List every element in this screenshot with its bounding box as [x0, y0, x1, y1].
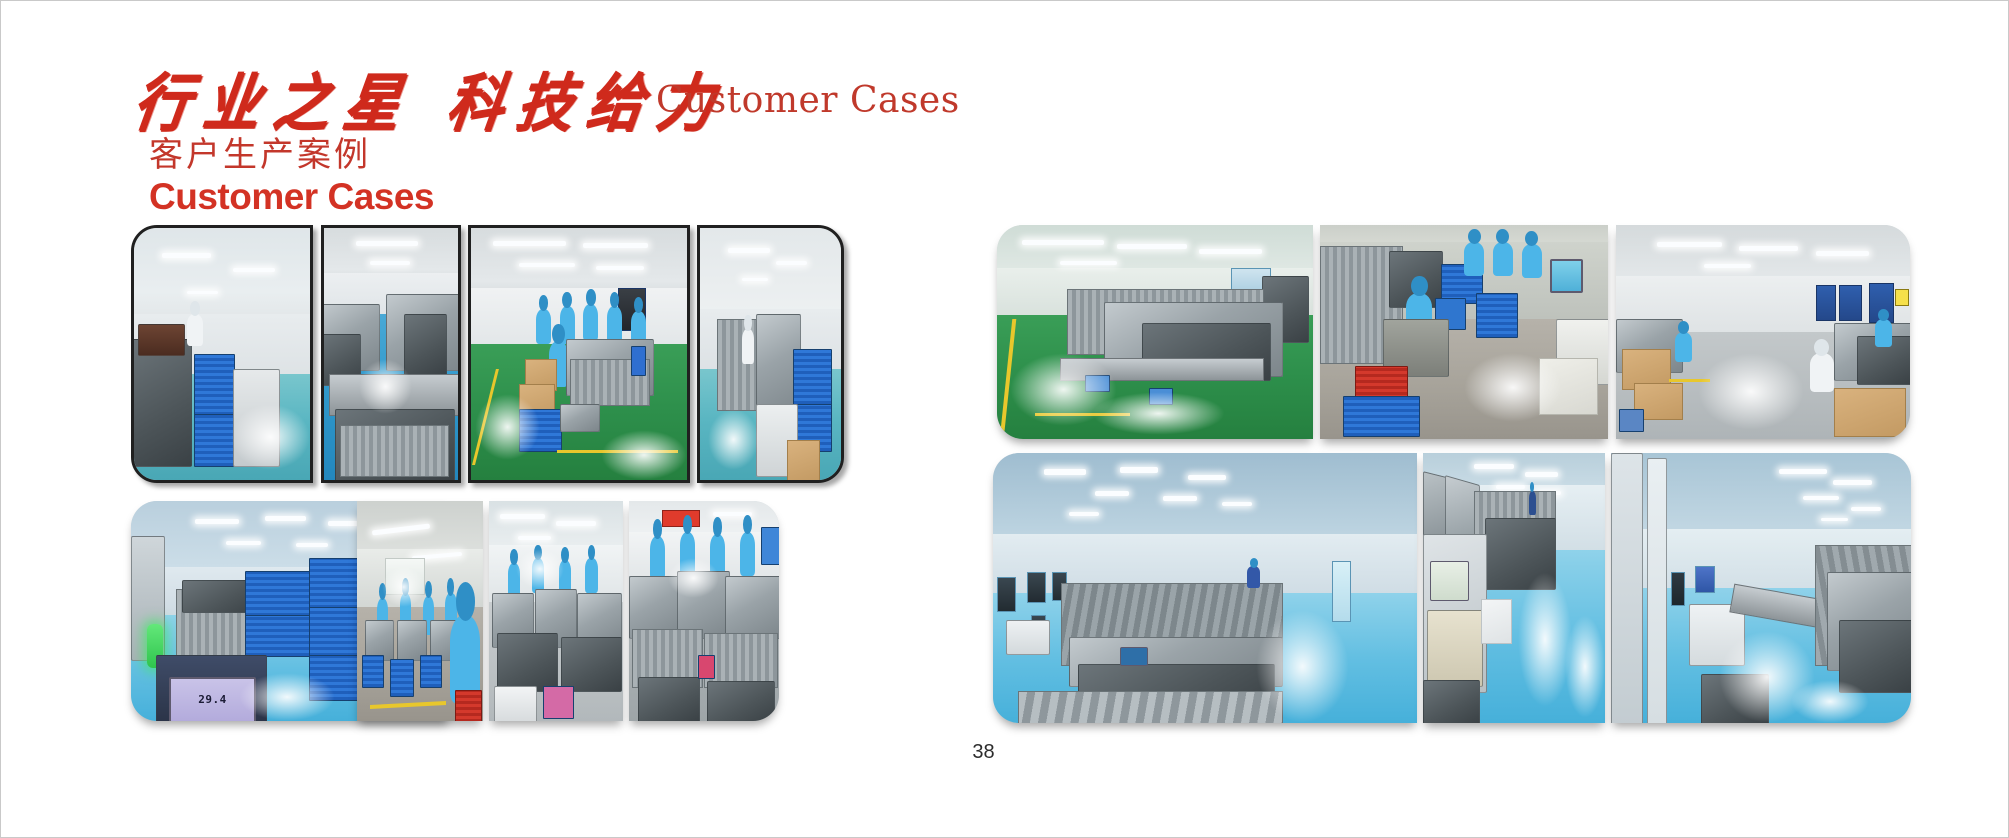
photo-tl-3[interactable]: [468, 225, 690, 483]
photo-tr-1[interactable]: [997, 225, 1313, 439]
page-number: 38: [1, 741, 2008, 764]
photo-tr-2[interactable]: [1320, 225, 1608, 439]
photo-tr-3[interactable]: [1616, 225, 1910, 439]
photo-tl-2[interactable]: [321, 225, 461, 483]
photo-tl-1[interactable]: [131, 225, 313, 483]
photo-bl-4[interactable]: [629, 501, 779, 721]
hmi-readout-value: 29.4: [198, 693, 227, 706]
hmi-display-bl-1: 29.4: [169, 677, 256, 721]
top-right-photo-cluster: [997, 225, 1913, 443]
section-subtitle-chinese: 客户生产案例: [149, 127, 371, 176]
photo-br-1[interactable]: [993, 453, 1417, 723]
section-subtitle-english: Customer Cases: [149, 176, 434, 218]
photo-tl-4[interactable]: [697, 225, 844, 483]
slide-header: 行业之星 科技给力 Customer Cases 客户生产案例 Customer…: [1, 1, 2008, 216]
page-number-value: 38: [972, 741, 994, 763]
photo-br-3[interactable]: [1611, 453, 1911, 723]
bottom-right-photo-cluster: [993, 453, 1913, 725]
top-left-photo-cluster: [131, 225, 981, 487]
slide-canvas: 行业之星 科技给力 Customer Cases 客户生产案例 Customer…: [0, 0, 2009, 838]
photo-bl-3[interactable]: [489, 501, 623, 721]
header-title-english: Customer Cases: [656, 80, 960, 121]
photo-br-2[interactable]: [1423, 453, 1605, 723]
bottom-left-photo-cluster: 29.4: [131, 501, 981, 725]
photo-bl-2[interactable]: [357, 501, 483, 721]
